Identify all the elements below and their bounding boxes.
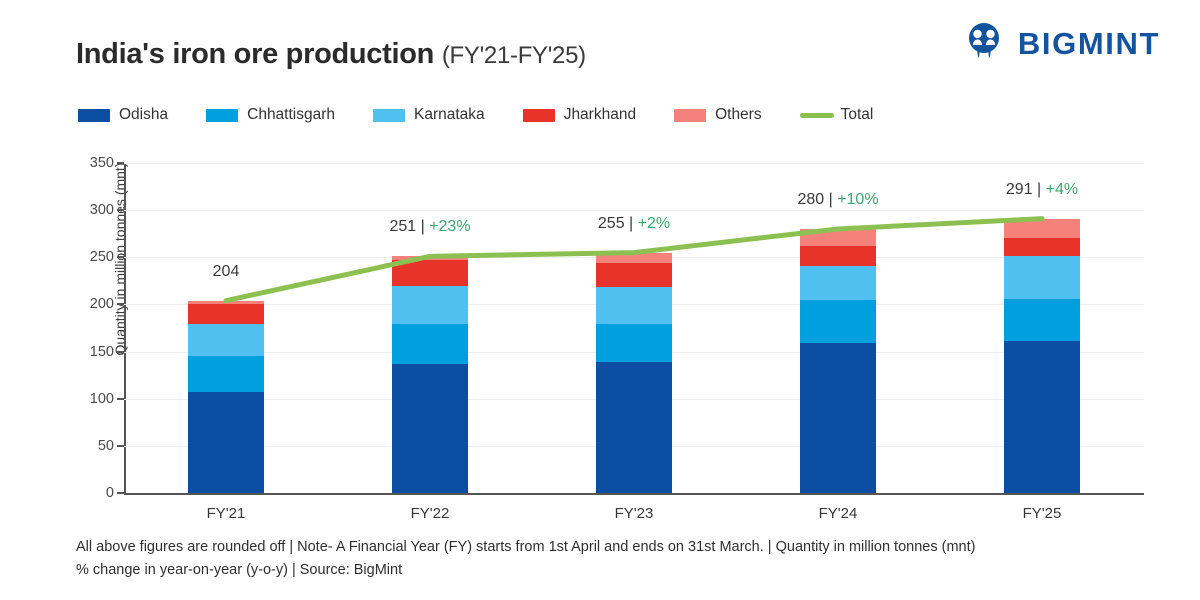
x-tick-label: FY'25 bbox=[972, 505, 1112, 522]
footnote-line-1: All above figures are rounded off | Note… bbox=[76, 536, 975, 559]
y-tick-mark bbox=[117, 209, 124, 211]
legend-label: Karnataka bbox=[414, 106, 485, 124]
total-trend-line bbox=[124, 163, 1144, 493]
y-tick-mark bbox=[117, 256, 124, 258]
bar-yoy-change: +2% bbox=[638, 215, 670, 232]
brand-logo: BIGMINT bbox=[962, 21, 1160, 66]
bar-total-value: 280 bbox=[797, 191, 824, 208]
y-tick-label: 0 bbox=[70, 485, 114, 501]
legend-swatch-others-icon bbox=[674, 109, 706, 122]
bar-yoy-change: +10% bbox=[837, 191, 878, 208]
legend-label: Chhattisgarh bbox=[247, 106, 335, 124]
bar-label-separator: | bbox=[1033, 181, 1046, 198]
brand-wordmark: BIGMINT bbox=[1018, 26, 1160, 62]
chart-plot-area: Quantity in million tonnes (mnt) 0501001… bbox=[124, 163, 1144, 493]
x-tick-label: FY'22 bbox=[360, 505, 500, 522]
x-tick-label: FY'21 bbox=[156, 505, 296, 522]
y-tick-mark bbox=[117, 162, 124, 164]
header: India's iron ore production (FY'21-FY'25… bbox=[0, 0, 1200, 90]
bar-total-label: 255 | +2% bbox=[598, 215, 670, 233]
page-title-main: India's iron ore production bbox=[76, 38, 434, 70]
bar-yoy-change: +4% bbox=[1046, 181, 1078, 198]
y-tick-mark bbox=[117, 445, 124, 447]
y-tick-mark bbox=[117, 303, 124, 305]
legend-swatch-karnataka-icon bbox=[373, 109, 405, 122]
bar-total-label: 280 | +10% bbox=[797, 191, 878, 209]
bar-total-label: 204 bbox=[213, 263, 240, 281]
bar-total-value: 204 bbox=[213, 263, 240, 280]
legend-label: Jharkhand bbox=[564, 106, 636, 124]
page-title-subtitle: (FY'21-FY'25) bbox=[442, 42, 586, 69]
legend-item-odisha[interactable]: Odisha bbox=[78, 106, 168, 124]
bar-total-value: 291 bbox=[1006, 181, 1033, 198]
legend-label: Others bbox=[715, 106, 762, 124]
bar-total-value: 251 bbox=[389, 218, 416, 235]
y-tick-label: 150 bbox=[70, 344, 114, 360]
bar-total-label: 251 | +23% bbox=[389, 218, 470, 236]
page-title: India's iron ore production (FY'21-FY'25… bbox=[76, 38, 586, 71]
y-tick-label: 100 bbox=[70, 391, 114, 407]
legend-label: Odisha bbox=[119, 106, 168, 124]
x-tick-label: FY'24 bbox=[768, 505, 908, 522]
bar-total-label: 291 | +4% bbox=[1006, 181, 1078, 199]
legend-item-total[interactable]: Total bbox=[800, 106, 874, 124]
y-tick-mark bbox=[117, 492, 124, 494]
y-tick-label: 200 bbox=[70, 296, 114, 312]
x-axis-line bbox=[124, 493, 1144, 495]
bigmint-logo-icon bbox=[962, 21, 1006, 66]
y-tick-mark bbox=[117, 351, 124, 353]
bar-label-separator: | bbox=[625, 215, 638, 232]
legend-swatch-chhattisgarh-icon bbox=[206, 109, 238, 122]
y-tick-label: 300 bbox=[70, 202, 114, 218]
y-tick-label: 50 bbox=[70, 438, 114, 454]
bar-yoy-change: +23% bbox=[429, 218, 470, 235]
y-tick-mark bbox=[117, 398, 124, 400]
legend-item-chhattisgarh[interactable]: Chhattisgarh bbox=[206, 106, 335, 124]
legend-label: Total bbox=[841, 106, 874, 124]
bar-label-separator: | bbox=[416, 218, 429, 235]
legend-item-karnataka[interactable]: Karnataka bbox=[373, 106, 485, 124]
y-tick-label: 350 bbox=[70, 155, 114, 171]
footnotes: All above figures are rounded off | Note… bbox=[76, 536, 975, 582]
x-tick-label: FY'23 bbox=[564, 505, 704, 522]
chart-legend: OdishaChhattisgarhKarnatakaJharkhandOthe… bbox=[78, 106, 911, 124]
bar-label-separator: | bbox=[824, 191, 837, 208]
y-tick-label: 250 bbox=[70, 249, 114, 265]
legend-swatch-odisha-icon bbox=[78, 109, 110, 122]
legend-swatch-jharkhand-icon bbox=[523, 109, 555, 122]
legend-item-others[interactable]: Others bbox=[674, 106, 762, 124]
legend-swatch-total-icon bbox=[800, 113, 834, 118]
legend-item-jharkhand[interactable]: Jharkhand bbox=[523, 106, 636, 124]
bar-total-value: 255 bbox=[598, 215, 625, 232]
footnote-line-2: % change in year-on-year (y-o-y) | Sourc… bbox=[76, 559, 975, 582]
